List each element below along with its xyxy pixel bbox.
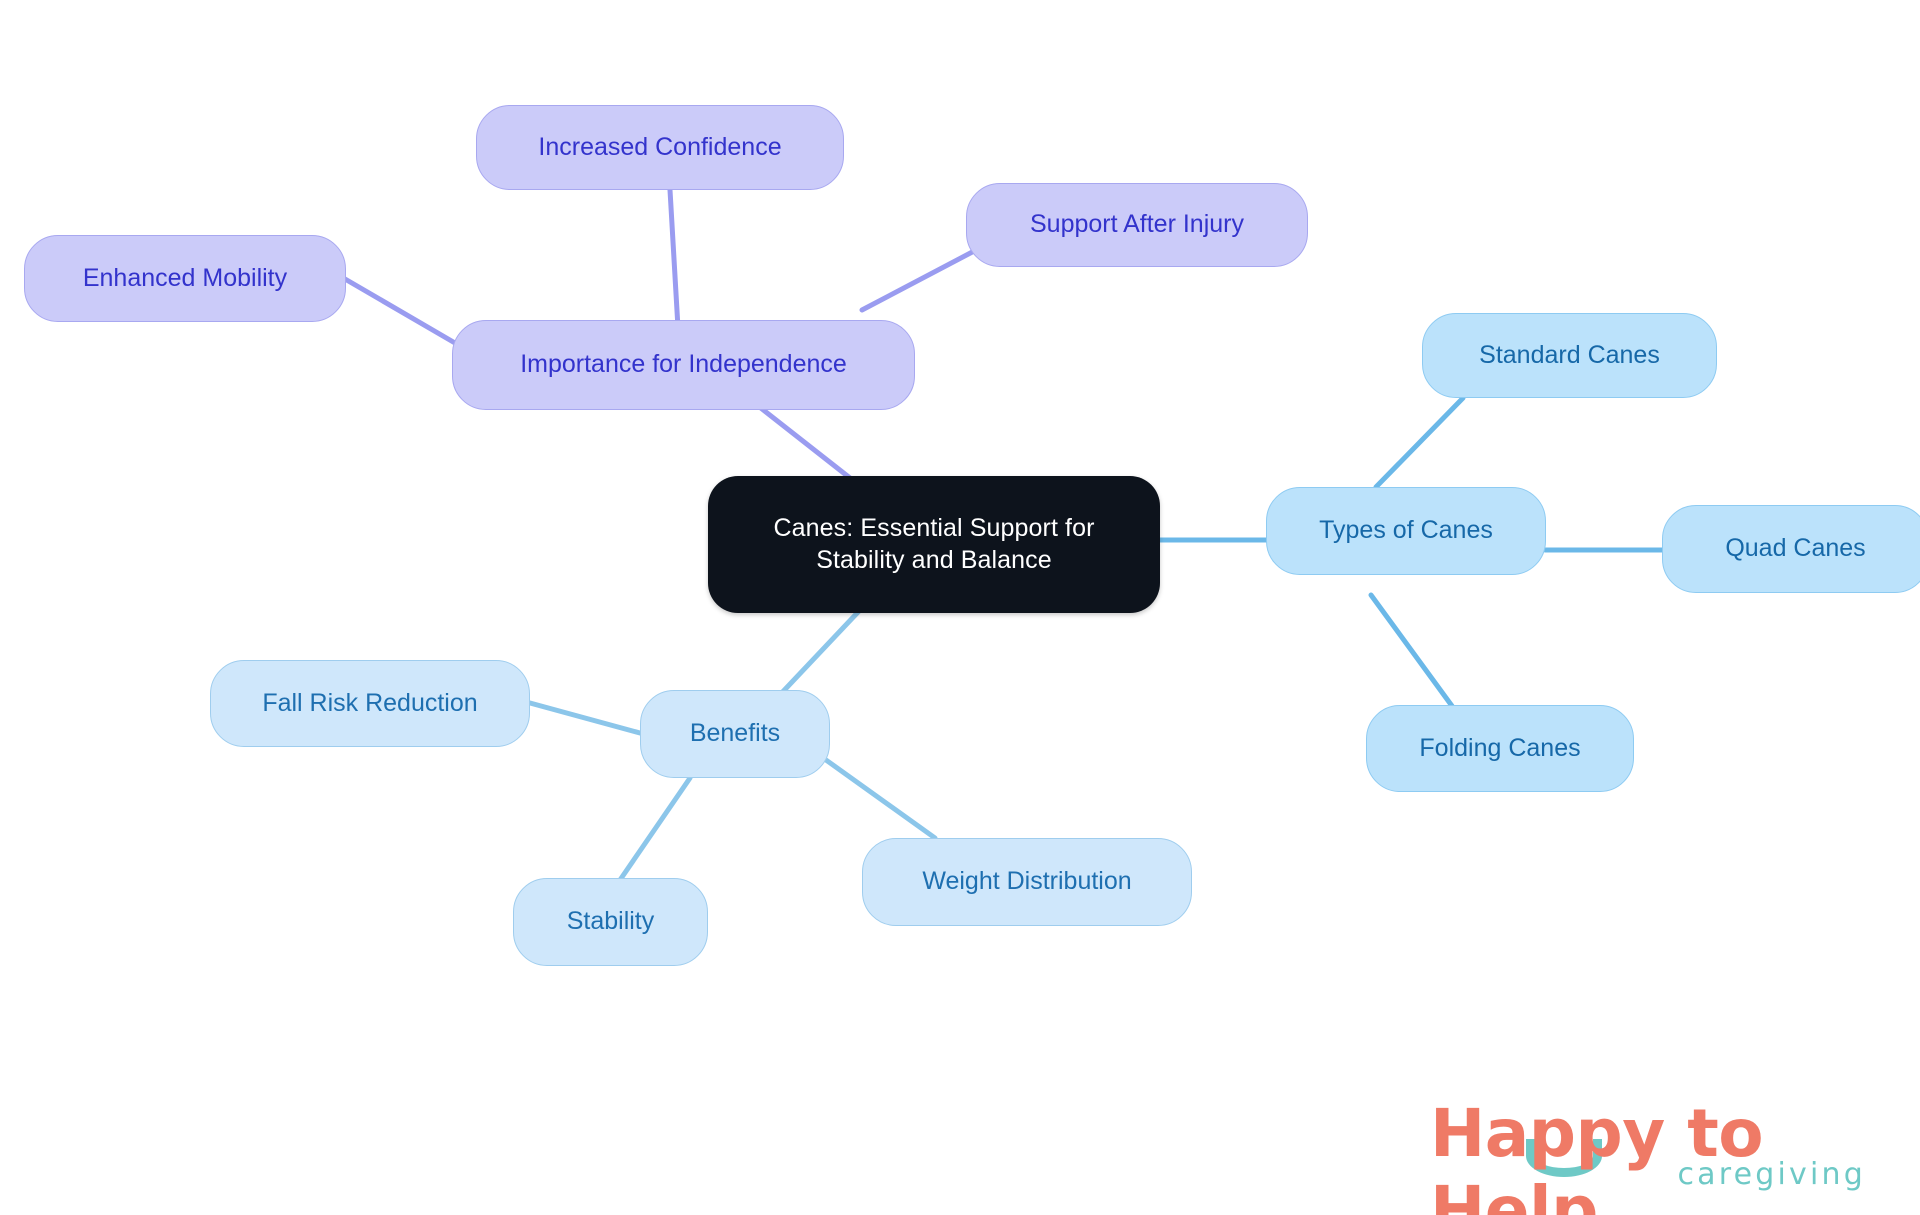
node-fall-risk-reduction[interactable]: Fall Risk Reduction xyxy=(210,660,530,747)
edge-importance-enhanced-mobility xyxy=(345,279,455,343)
edge-types-folding-canes xyxy=(1371,595,1452,706)
node-label: Canes: Essential Support for Stability a… xyxy=(773,513,1094,576)
edge-benefits-fall-risk-reduction xyxy=(530,703,640,733)
node-stability[interactable]: Stability xyxy=(513,878,708,966)
edge-importance-support-after-injury xyxy=(862,249,978,310)
brand-logo: Happy to Help caregiving xyxy=(1430,1095,1870,1200)
mindmap-canvas: Increased Confidence Support After Injur… xyxy=(0,0,1920,1215)
logo-wordmark: Happy to Help xyxy=(1430,1095,1870,1215)
edge-benefits-stability xyxy=(620,778,690,880)
node-importance-for-independence[interactable]: Importance for Independence xyxy=(452,320,915,410)
edge-root-importance xyxy=(757,405,850,478)
node-weight-distribution[interactable]: Weight Distribution xyxy=(862,838,1192,926)
node-label: Enhanced Mobility xyxy=(83,263,287,294)
node-label: Weight Distribution xyxy=(922,866,1131,897)
node-label: Importance for Independence xyxy=(520,349,847,380)
node-label: Fall Risk Reduction xyxy=(262,688,477,719)
node-label: Folding Canes xyxy=(1419,733,1580,764)
edge-importance-increased-confidence xyxy=(670,190,678,328)
node-label: Benefits xyxy=(690,718,780,749)
node-benefits[interactable]: Benefits xyxy=(640,690,830,778)
node-label: Stability xyxy=(567,906,655,937)
node-quad-canes[interactable]: Quad Canes xyxy=(1662,505,1920,593)
node-support-after-injury[interactable]: Support After Injury xyxy=(966,183,1308,267)
node-enhanced-mobility[interactable]: Enhanced Mobility xyxy=(24,235,346,322)
node-standard-canes[interactable]: Standard Canes xyxy=(1422,313,1717,398)
node-root-canes-essential-support[interactable]: Canes: Essential Support for Stability a… xyxy=(708,476,1160,613)
node-types-of-canes[interactable]: Types of Canes xyxy=(1266,487,1546,575)
node-label: Support After Injury xyxy=(1030,209,1244,240)
logo-tagline: caregiving xyxy=(1677,1157,1866,1192)
node-label: Standard Canes xyxy=(1479,340,1660,371)
node-label: Quad Canes xyxy=(1725,533,1865,564)
edge-root-benefits xyxy=(775,610,860,700)
node-increased-confidence[interactable]: Increased Confidence xyxy=(476,105,844,190)
node-label: Increased Confidence xyxy=(538,132,781,163)
node-label: Types of Canes xyxy=(1319,515,1493,546)
edge-benefits-weight-distribution xyxy=(826,760,935,838)
edge-types-standard-canes xyxy=(1376,398,1463,487)
node-folding-canes[interactable]: Folding Canes xyxy=(1366,705,1634,792)
